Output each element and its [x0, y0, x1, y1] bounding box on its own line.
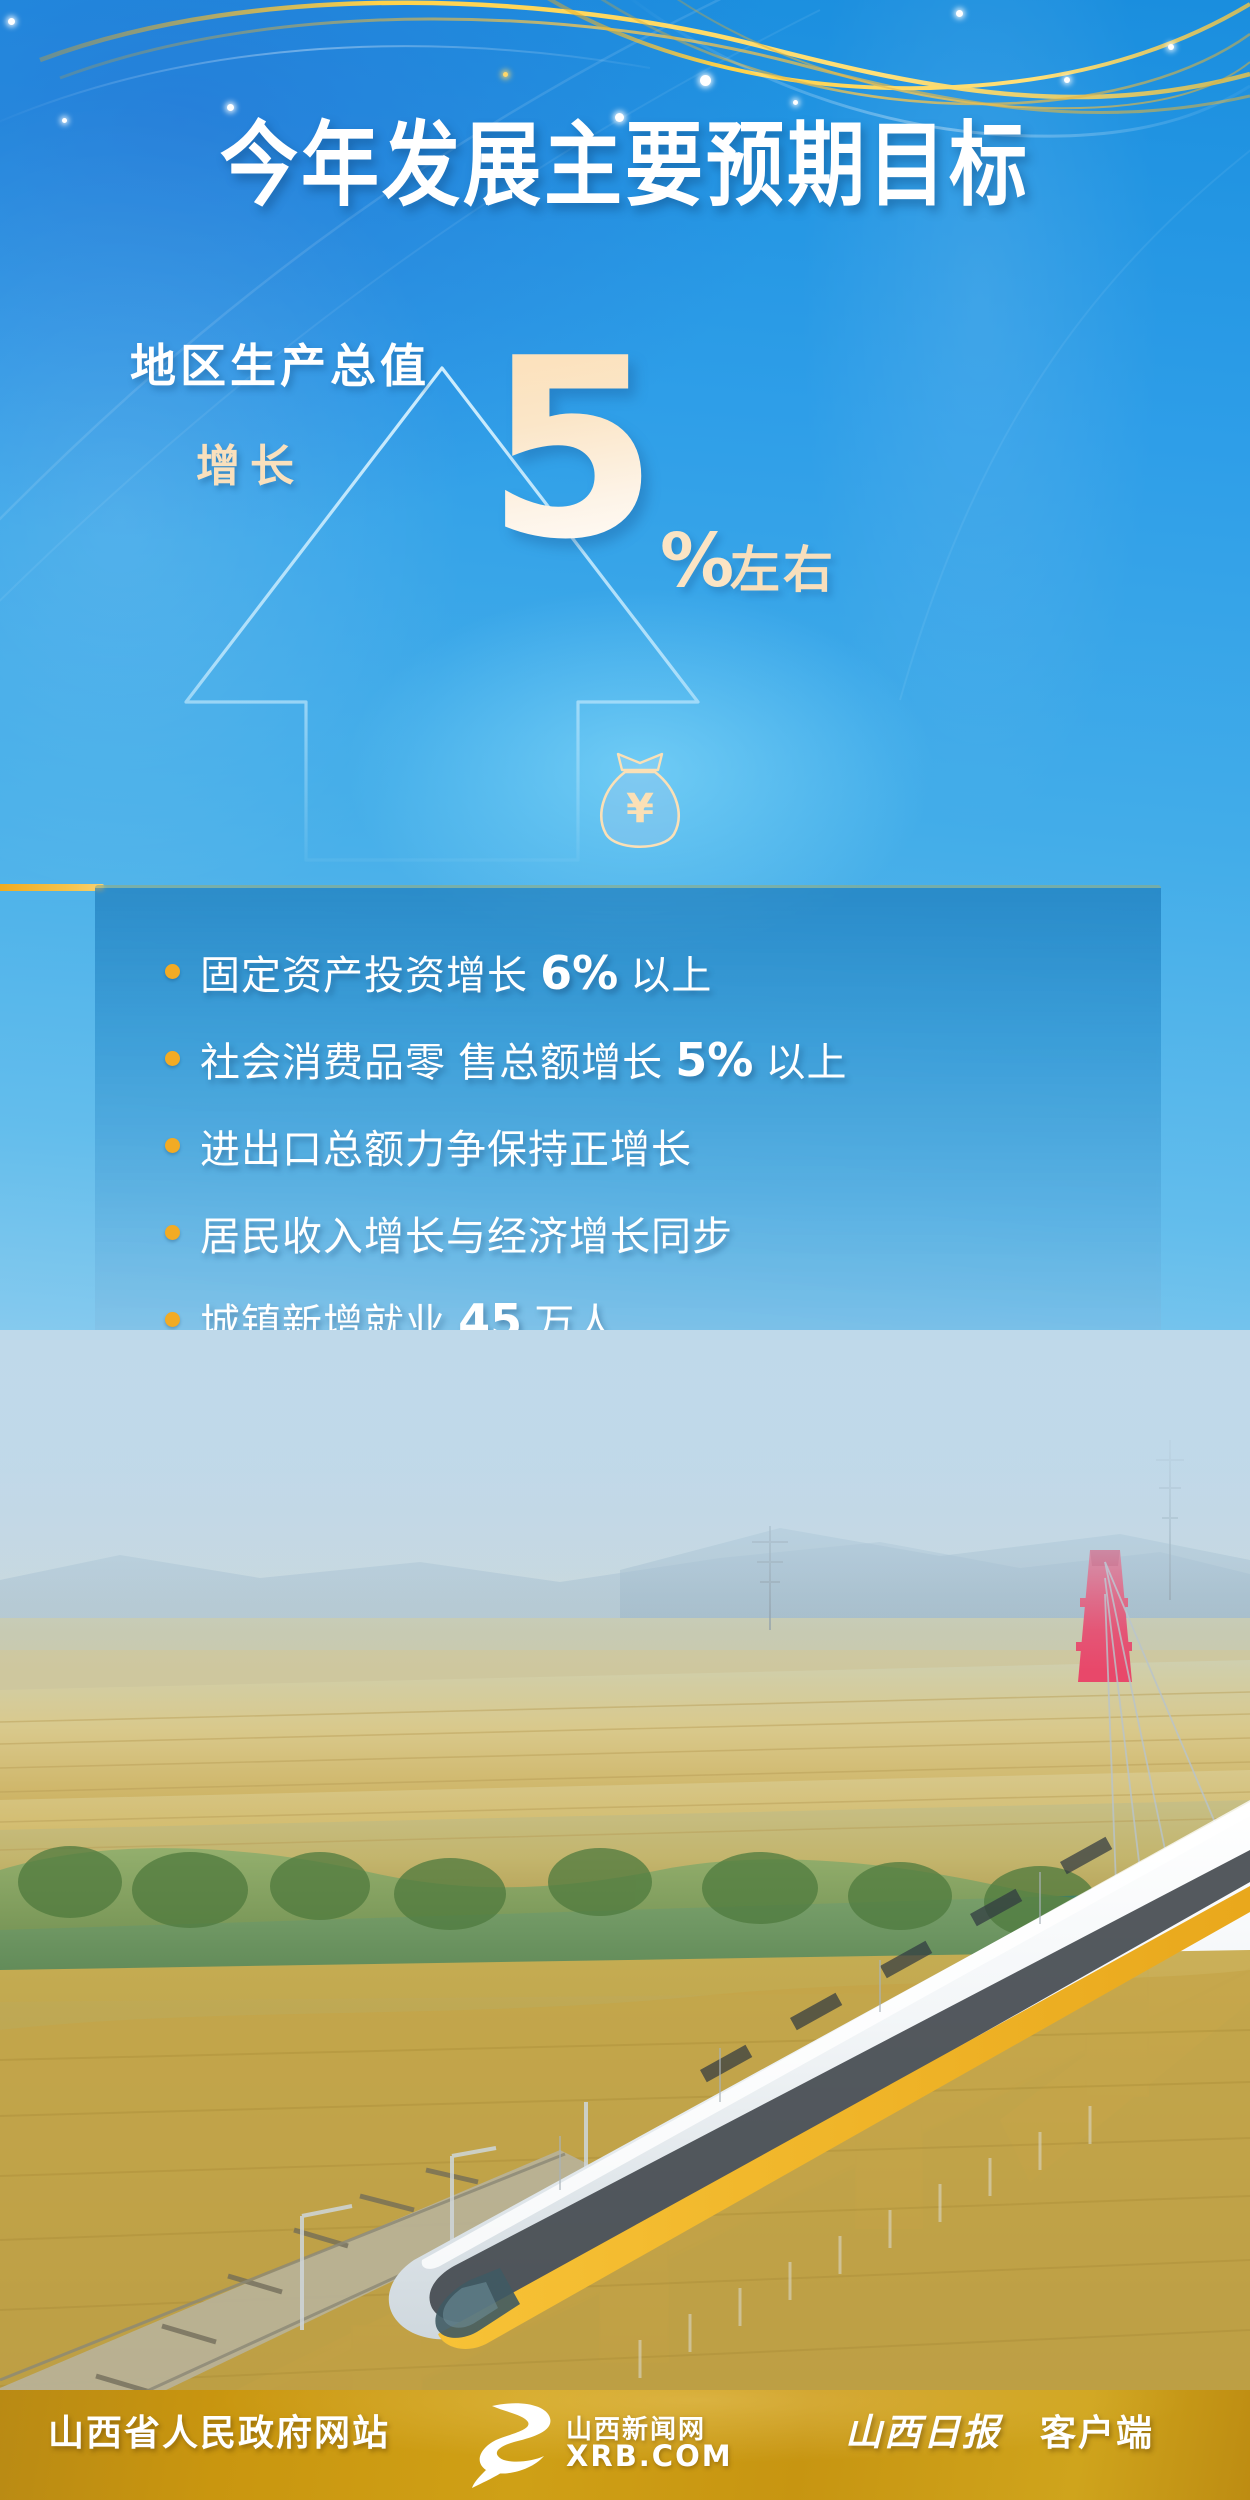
- sparkle-dot: [700, 75, 711, 86]
- gdp-value: 5: [486, 326, 659, 574]
- list-item: 进出口总额力争保持正增长: [165, 1102, 1155, 1189]
- money-bag-icon: ¥: [592, 750, 688, 858]
- sparkle-dot: [956, 10, 963, 17]
- train-landscape-photo: [0, 1330, 1250, 2440]
- page-title: 今年发展主要预期目标: [0, 92, 1250, 224]
- photo-illustration: [0, 1330, 1250, 2440]
- sparkle-dot: [503, 72, 508, 77]
- bullet-icon: [165, 1051, 180, 1066]
- gdp-approx-label: 左右: [730, 530, 836, 602]
- bullet-icon: [165, 1312, 180, 1327]
- brush-s-logo-icon: [470, 2398, 556, 2490]
- footer-news-en: XRB.COM: [566, 2442, 733, 2472]
- footer-app-label[interactable]: 客户端: [1040, 2404, 1154, 2456]
- bullet-icon: [165, 964, 180, 979]
- bullet-icon: [165, 1138, 180, 1153]
- footer-paper-name[interactable]: 山西日报: [845, 2402, 1001, 2456]
- list-item: 社会消费品零 售总额增长 5% 以上: [165, 1015, 1155, 1102]
- list-item-text: 固定资产投资增长 6% 以上: [200, 943, 712, 1001]
- gdp-growth-label: 增长: [196, 430, 304, 494]
- sparkle-dot: [1064, 77, 1070, 83]
- bullet-icon: [165, 1225, 180, 1240]
- poster-root: 今年发展主要预期目标 地区生产总值 增长 5 % 左右 ¥: [0, 0, 1250, 2500]
- list-item-text: 社会消费品零 售总额增长 5% 以上: [200, 1030, 847, 1088]
- list-item-text: 居民收入增长与经济增长同步: [200, 1204, 733, 1262]
- list-item-text: 进出口总额力争保持正增长: [200, 1117, 692, 1175]
- sparkle-dot: [1168, 44, 1174, 50]
- currency-symbol: ¥: [626, 786, 654, 832]
- gdp-hero-section: 地区生产总值 增长 5 % 左右 ¥: [0, 330, 1250, 890]
- shanxi-news-logo[interactable]: 山西新闻网 XRB.COM: [470, 2398, 733, 2490]
- list-item: 固定资产投资增长 6% 以上: [165, 928, 1155, 1015]
- gdp-unit: %: [660, 518, 734, 604]
- sparkle-dot: [8, 18, 15, 25]
- gold-accent-bar: [0, 884, 104, 891]
- footer-bar: 山西省人民政府网站 山西新闻网 XRB.COM 山西日报 客户端: [0, 2390, 1250, 2500]
- footer-gov-site[interactable]: 山西省人民政府网站: [48, 2404, 390, 2456]
- list-item: 居民收入增长与经济增长同步: [165, 1189, 1155, 1276]
